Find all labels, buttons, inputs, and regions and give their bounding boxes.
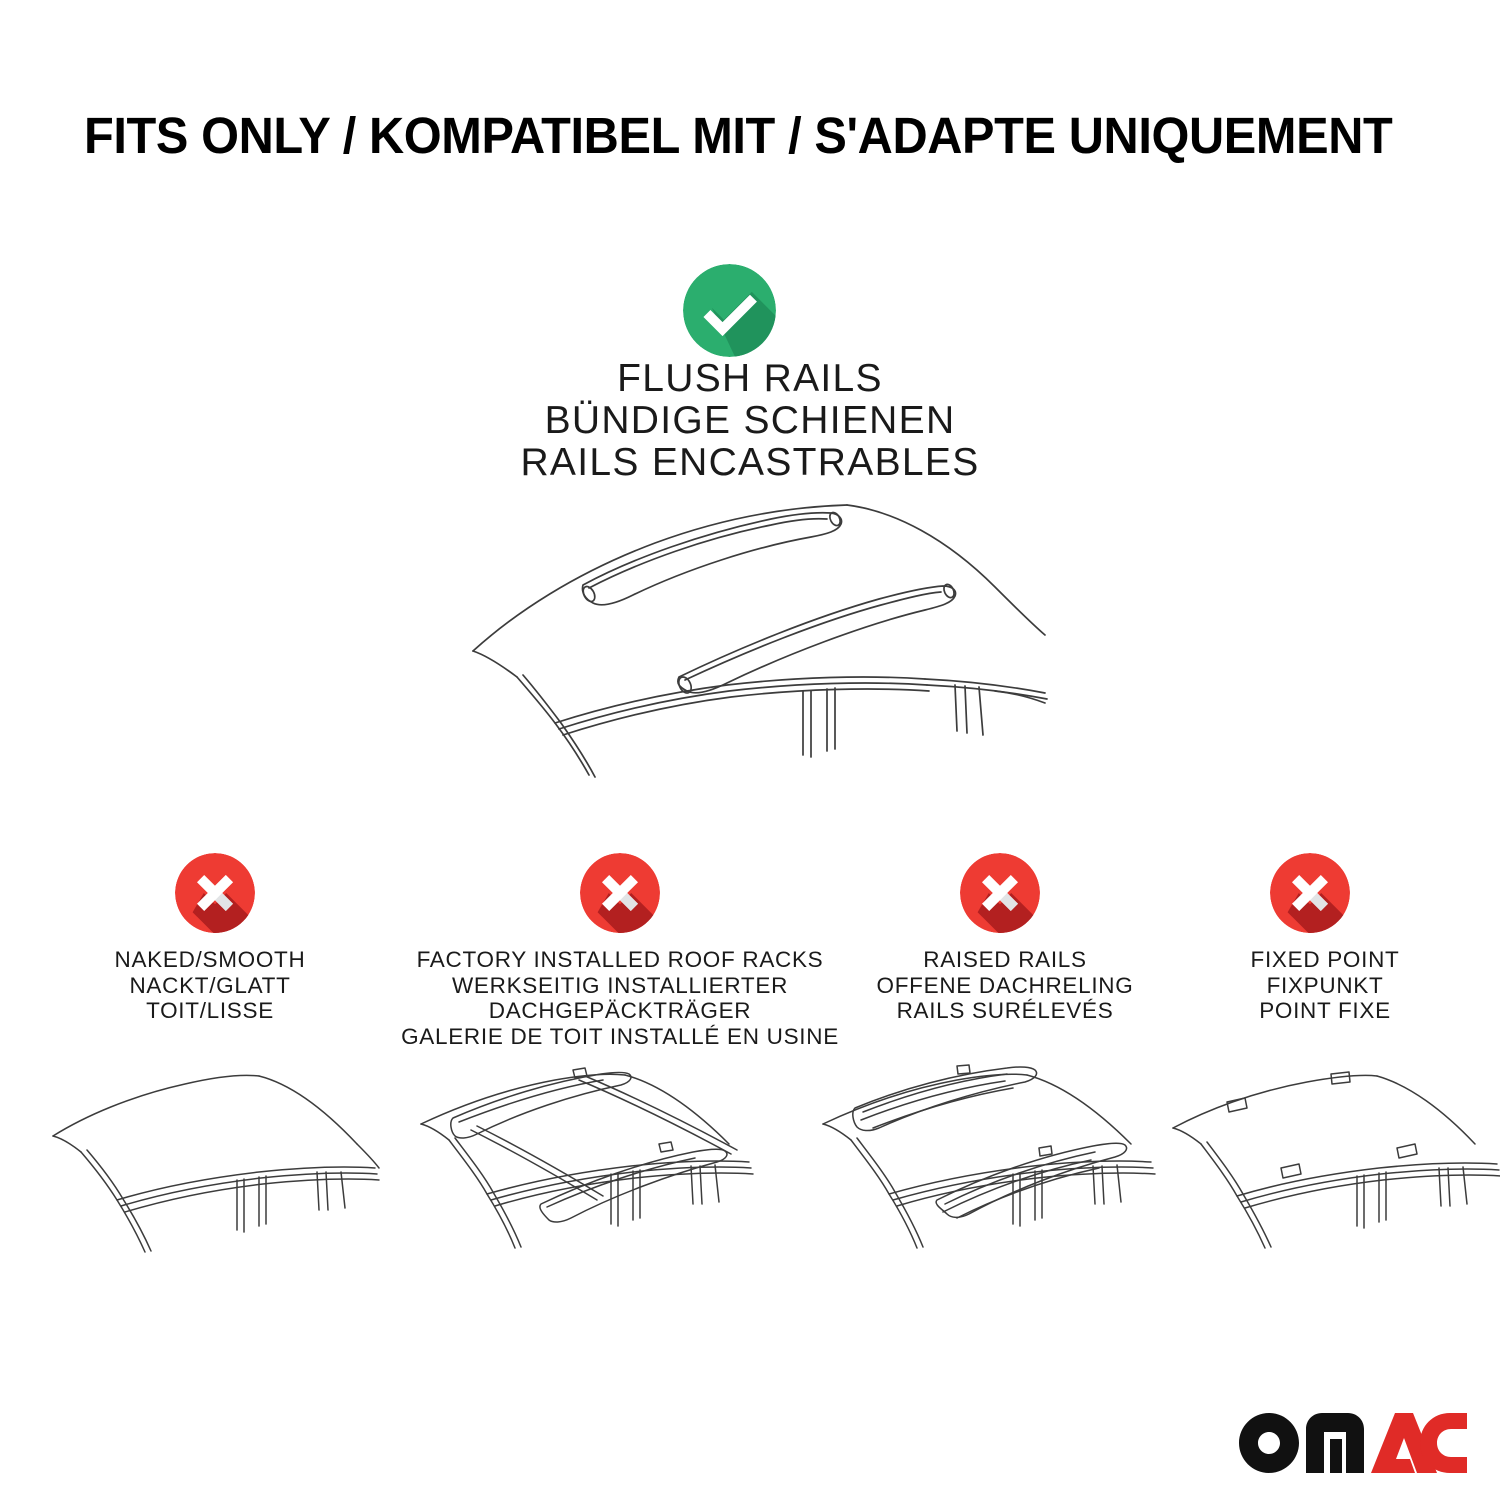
- page-title: FITS ONLY / KOMPATIBEL MIT / S'ADAPTE UN…: [84, 106, 1392, 165]
- caption-line-de: FIXPUNKT: [1175, 973, 1475, 999]
- compatible-line-de: BÜNDIGE SCHIENEN: [250, 400, 1250, 442]
- check-circle-icon: [683, 264, 776, 357]
- car-roof-naked-smooth-illustration: [45, 1058, 385, 1288]
- caption-line-fr: GALERIE DE TOIT INSTALLÉ EN USINE: [385, 1024, 855, 1050]
- compatible-line-fr: RAILS ENCASTRABLES: [250, 442, 1250, 484]
- car-roof-factory-racks-illustration: [415, 1058, 770, 1288]
- caption-line-en: NAKED/SMOOTH: [35, 947, 385, 973]
- caption-line-en: FACTORY INSTALLED ROOF RACKS: [385, 947, 855, 973]
- caption-line-de-1: WERKSEITIG INSTALLIERTER: [385, 973, 855, 999]
- car-roof-flush-rails-illustration: [455, 495, 1055, 795]
- caption-line-en: FIXED POINT: [1175, 947, 1475, 973]
- omac-logo: [1238, 1412, 1468, 1474]
- header-banner: FITS ONLY / KOMPATIBEL MIT / S'ADAPTE UN…: [84, 104, 1424, 166]
- car-roof-fixed-point-illustration: [1165, 1058, 1500, 1288]
- caption-line-de: OFFENE DACHRELING: [825, 973, 1185, 999]
- caption-line-de: NACKT/GLATT: [35, 973, 385, 999]
- x-circle-icon: [175, 853, 255, 933]
- incompatible-caption: FACTORY INSTALLED ROOF RACKS WERKSEITIG …: [385, 947, 855, 1049]
- x-circle-icon: [1270, 853, 1350, 933]
- compatible-caption: FLUSH RAILS BÜNDIGE SCHIENEN RAILS ENCAS…: [250, 358, 1250, 484]
- caption-line-de-2: DACHGEPÄCKTRÄGER: [385, 998, 855, 1024]
- incompatible-caption: FIXED POINT FIXPUNKT POINT FIXE: [1175, 947, 1475, 1024]
- incompatible-caption: RAISED RAILS OFFENE DACHRELING RAILS SUR…: [825, 947, 1185, 1024]
- incompatible-caption: NAKED/SMOOTH NACKT/GLATT TOIT/LISSE: [35, 947, 385, 1024]
- caption-line-fr: RAILS SURÉLEVÉS: [825, 998, 1185, 1024]
- x-circle-icon: [960, 853, 1040, 933]
- car-roof-raised-rails-illustration: [815, 1058, 1165, 1288]
- caption-line-fr: TOIT/LISSE: [35, 998, 385, 1024]
- compatible-line-en: FLUSH RAILS: [250, 358, 1250, 400]
- x-circle-icon: [580, 853, 660, 933]
- caption-line-fr: POINT FIXE: [1175, 998, 1475, 1024]
- caption-line-en: RAISED RAILS: [825, 947, 1185, 973]
